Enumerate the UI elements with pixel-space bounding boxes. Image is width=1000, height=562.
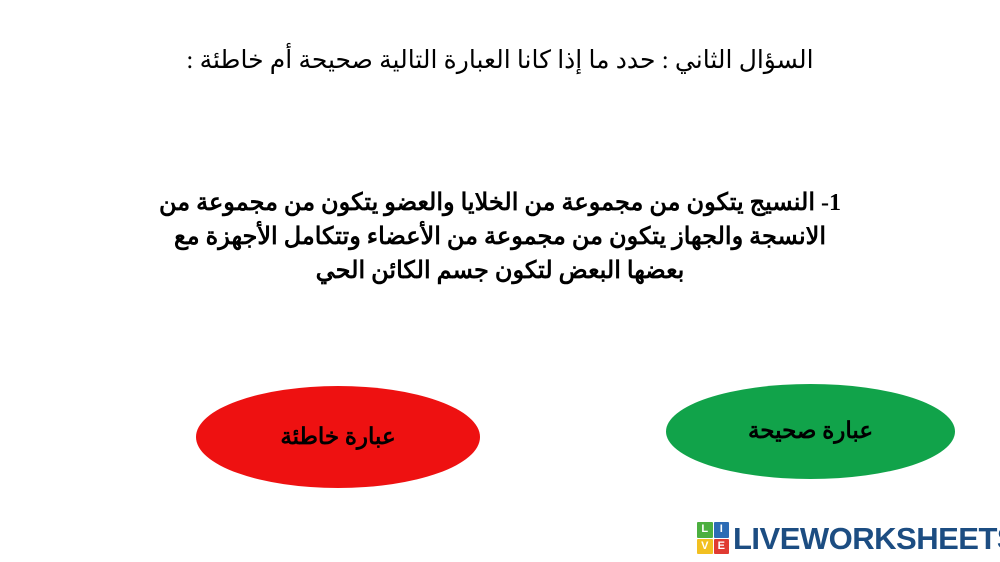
liveworksheets-logo[interactable]: L I V E LIVEWORKSHEETS: [697, 519, 1000, 557]
question-heading: السؤال الثاني : حدد ما إذا كانا العبارة …: [20, 44, 980, 78]
worksheet-page: السؤال الثاني : حدد ما إذا كانا العبارة …: [0, 0, 1000, 562]
answer-option-true-label: عبارة صحيحة: [748, 419, 873, 444]
liveworksheets-wordmark: LIVEWORKSHEETS: [733, 523, 1000, 554]
statement-line-3: بعضها البعض لتكون جسم الكائن الحي: [55, 254, 945, 288]
answer-option-false-label: عبارة خاطئة: [280, 425, 395, 450]
statement-line-1: 1- النسيج يتكون من مجموعة من الخلايا وال…: [55, 186, 945, 220]
logo-tile-l: L: [697, 522, 713, 538]
logo-tile-i: I: [714, 522, 730, 538]
logo-tile-v: V: [697, 539, 713, 555]
statement-block: 1- النسيج يتكون من مجموعة من الخلايا وال…: [55, 186, 945, 288]
liveworksheets-mark-icon: L I V E: [697, 522, 729, 554]
answer-option-true[interactable]: عبارة صحيحة: [666, 384, 955, 479]
logo-tile-e: E: [714, 539, 730, 555]
answer-option-false[interactable]: عبارة خاطئة: [196, 386, 480, 488]
statement-line-2: الانسجة والجهاز يتكون من مجموعة من الأعض…: [55, 220, 945, 254]
